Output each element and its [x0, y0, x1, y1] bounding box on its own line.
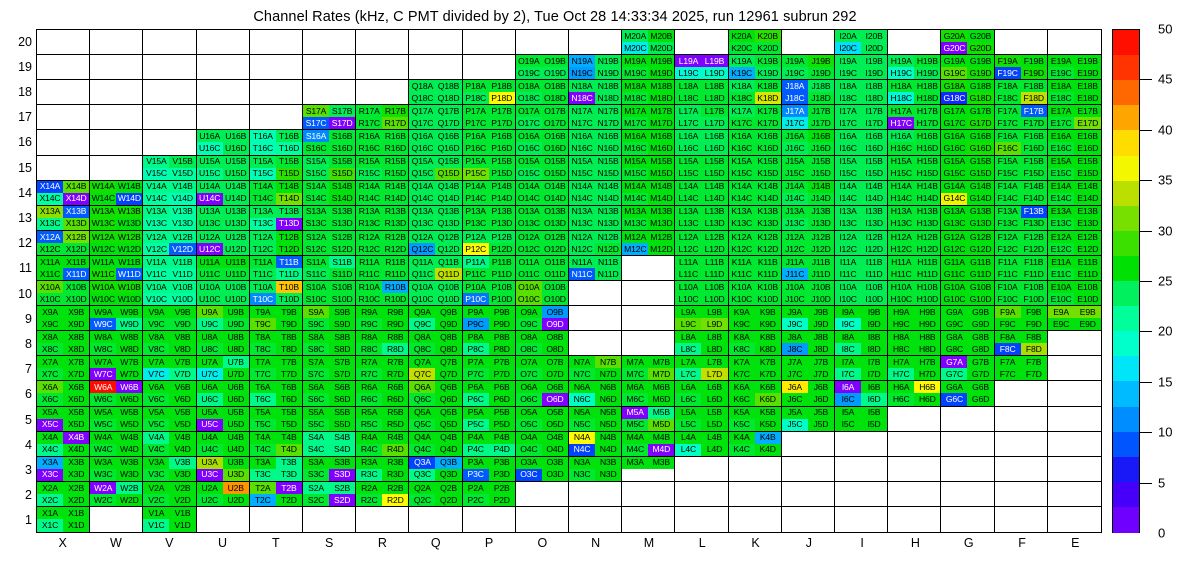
channel-R11B: R11B [382, 256, 408, 268]
grid-cell-N11: N11AN11BN11CN11D [569, 256, 622, 281]
channel-E1B [1074, 507, 1101, 520]
channel-P2C: P2C [463, 494, 489, 506]
channel-S15D: S15D [329, 168, 355, 180]
channel-R15B: R15B [382, 156, 408, 168]
channel-Q12C: Q12C [409, 243, 435, 255]
channel-M19A: M19A [622, 55, 648, 67]
channel-G10D: G10D [967, 293, 993, 305]
channel-M2D [648, 494, 674, 506]
channel-I3A [835, 457, 861, 469]
channel-W10D: W10D [116, 293, 142, 305]
channel-N12D: N12D [595, 243, 621, 255]
grid-cell-V11: V11AV11BV11CV11D [143, 256, 196, 281]
channel-G6D: G6D [967, 393, 993, 405]
channel-K6B: K6B [755, 381, 781, 393]
channel-L8C: L8C [675, 343, 701, 355]
channel-U20C [197, 42, 223, 54]
channel-Q12A: Q12A [409, 231, 435, 243]
channel-J20C [782, 42, 808, 54]
y-tick-20: 20 [2, 35, 32, 49]
x-tick-J: J [789, 536, 829, 550]
channel-T9A: T9A [250, 306, 276, 318]
channel-O16A: O16A [516, 130, 542, 142]
grid-cell-G17: G17AG17BG17CG17D [941, 105, 994, 130]
channel-M17A: M17A [622, 105, 648, 117]
grid-cell-W1 [90, 507, 143, 532]
channel-T3C: T3C [250, 469, 276, 481]
channel-L19D: L19D [701, 67, 727, 79]
grid-cell-F10: F10AF10BF10CF10D [995, 281, 1048, 306]
channel-W5A: W5A [90, 407, 116, 419]
grid-cell-W2: W2AW2BW2CW2D [90, 482, 143, 507]
channel-W18C [90, 92, 116, 104]
channel-S4C: S4C [303, 444, 329, 456]
channel-F2B [1021, 482, 1047, 494]
channel-S3B: S3B [329, 457, 355, 469]
grid-cell-O17: O17AO17BO17CO17D [516, 105, 569, 130]
channel-M20B: M20B [648, 30, 674, 42]
channel-Q16A: Q16A [409, 130, 435, 142]
channel-S4D: S4D [329, 444, 355, 456]
channel-P12A: P12A [463, 231, 489, 243]
channel-Q12B: Q12B [435, 231, 461, 243]
channel-N20B [595, 30, 621, 42]
x-tick-E: E [1055, 536, 1095, 550]
grid-cell-P3: P3AP3BP3CP3D [463, 457, 516, 482]
channel-F8B: F8B [1021, 331, 1047, 343]
channel-R8B: R8B [382, 331, 408, 343]
grid-cell-Q1 [409, 507, 462, 532]
grid-cell-O20 [516, 30, 569, 55]
channel-I18D: I18D [861, 92, 887, 104]
grid-cell-N2 [569, 482, 622, 507]
channel-W1A [90, 507, 116, 520]
grid-cell-W20 [90, 30, 143, 55]
channel-I19D: I19D [861, 67, 887, 79]
channel-J4C [782, 444, 808, 456]
channel-N1D [595, 519, 621, 532]
grid-cell-V19 [143, 55, 196, 80]
channel-K16A: K16A [729, 130, 755, 142]
grid-cell-F14: F14AF14BF14CF14D [995, 181, 1048, 206]
grid-cell-V3: V3AV3BV3CV3D [143, 457, 196, 482]
grid-cell-Q3: Q3AQ3BQ3CQ3D [409, 457, 462, 482]
channel-H14D: H14D [914, 193, 940, 205]
channel-X4C: X4C [37, 444, 63, 456]
channel-W14B: W14B [116, 181, 142, 193]
grid-cell-R2: R2AR2BR2CR2D [356, 482, 409, 507]
channel-I15D: I15D [861, 168, 887, 180]
channel-V8C: V8C [143, 343, 169, 355]
channel-I11A: I11A [835, 256, 861, 268]
channel-K3B [755, 457, 781, 469]
grid-cell-X13: X13AX13BX13CX13D [37, 206, 90, 231]
channel-H7A: H7A [888, 356, 914, 368]
channel-W2B: W2B [116, 482, 142, 494]
channel-R9A: R9A [356, 306, 382, 318]
channel-K18B: K18B [755, 80, 781, 92]
grid-cell-I13: I13AI13BI13CI13D [835, 206, 888, 231]
grid-cell-X10: X10AX10BX10CX10D [37, 281, 90, 306]
grid-cell-Q7: Q7AQ7BQ7CQ7D [409, 356, 462, 381]
channel-K8D: K8D [755, 343, 781, 355]
channel-E10B: E10B [1074, 281, 1101, 293]
channel-N8A [569, 331, 595, 343]
channel-O4A: O4A [516, 432, 542, 444]
channel-I5D: I5D [861, 419, 887, 431]
channel-R9B: R9B [382, 306, 408, 318]
channel-U14C: U14C [197, 193, 223, 205]
channel-T10C: T10C [250, 293, 276, 305]
channel-F15C: F15C [995, 168, 1021, 180]
channel-Q10B: Q10B [435, 281, 461, 293]
channel-G9A: G9A [941, 306, 967, 318]
channel-V9C: V9C [143, 318, 169, 330]
channel-V16C [143, 142, 169, 154]
grid-cell-R7: R7AR7BR7CR7D [356, 356, 409, 381]
channel-P2B: P2B [489, 482, 515, 494]
grid-cell-O13: O13AO13BO13CO13D [516, 206, 569, 231]
grid-cell-V9: V9AV9BV9CV9D [143, 306, 196, 331]
channel-X13A: X13A [37, 206, 63, 218]
channel-X18D [63, 92, 89, 104]
grid-cell-X7: X7AX7BX7CX7D [37, 356, 90, 381]
grid-cell-G14: G14AG14BG14CG14D [941, 181, 994, 206]
channel-O15C: O15C [516, 168, 542, 180]
channel-I7D: I7D [861, 368, 887, 380]
channel-G3B [967, 457, 993, 469]
channel-O3C: O3C [516, 469, 542, 481]
channel-J12D: J12D [808, 243, 834, 255]
channel-O10D: O10D [542, 293, 568, 305]
grid-cell-K8: K8AK8BK8CK8D [729, 331, 782, 356]
channel-X17D [63, 117, 89, 129]
channel-X15D [63, 168, 89, 180]
channel-P8B: P8B [489, 331, 515, 343]
channel-F14C: F14C [995, 193, 1021, 205]
x-tick-S: S [309, 536, 349, 550]
channel-F1C [995, 519, 1021, 532]
channel-G10C: G10C [941, 293, 967, 305]
channel-Q16D: Q16D [435, 142, 461, 154]
channel-L16B: L16B [701, 130, 727, 142]
channel-E7A [1048, 356, 1075, 368]
channel-I12D: I12D [861, 243, 887, 255]
channel-R9D: R9D [382, 318, 408, 330]
grid-cell-F9: F9AF9BF9CF9D [995, 306, 1048, 331]
channel-P13C: P13C [463, 218, 489, 230]
channel-Q16C: Q16C [409, 142, 435, 154]
channel-G14D: G14D [967, 193, 993, 205]
y-tick-16: 16 [2, 135, 32, 149]
channel-G7D: G7D [967, 368, 993, 380]
grid-cell-O12: O12AO12BO12CO12D [516, 231, 569, 256]
grid-cell-W11: W11AW11BW11CW11D [90, 256, 143, 281]
channel-S16B: S16B [329, 130, 355, 142]
channel-I1C [835, 519, 861, 532]
channel-I11C: I11C [835, 268, 861, 280]
channel-U11B: U11B [223, 256, 249, 268]
channel-W11A: W11A [90, 256, 116, 268]
channel-P4A: P4A [463, 432, 489, 444]
grid-cell-E3 [1048, 457, 1101, 482]
channel-M10B [648, 281, 674, 293]
grid-cell-T8: T8AT8BT8CT8D [250, 331, 303, 356]
grid-cell-H17: H17AH17BH17CH17D [888, 105, 941, 130]
channel-V3D: V3D [169, 469, 195, 481]
channel-E12D: E12D [1074, 243, 1101, 255]
channel-P16C: P16C [463, 142, 489, 154]
grid-cell-W13: W13AW13BW13CW13D [90, 206, 143, 231]
grid-cell-E4 [1048, 432, 1101, 457]
channel-Q9D: Q9D [435, 318, 461, 330]
channel-R16B: R16B [382, 130, 408, 142]
channel-L11D: L11D [701, 268, 727, 280]
channel-O3B: O3B [542, 457, 568, 469]
channel-I10A: I10A [835, 281, 861, 293]
channel-I3C [835, 469, 861, 481]
channel-R11C: R11C [356, 268, 382, 280]
channel-N8D [595, 343, 621, 355]
channel-U3D: U3D [223, 469, 249, 481]
channel-Q20C [409, 42, 435, 54]
channel-X16D [63, 142, 89, 154]
channel-O2C [516, 494, 542, 506]
channel-W9C: W9C [90, 318, 116, 330]
channel-V13A: V13A [143, 206, 169, 218]
channel-T15B: T15B [276, 156, 302, 168]
channel-W14C: W14C [90, 193, 116, 205]
channel-L6B: L6B [701, 381, 727, 393]
channel-N10D [595, 293, 621, 305]
channel-J2D [808, 494, 834, 506]
channel-J12C: J12C [782, 243, 808, 255]
channel-T9C: T9C [250, 318, 276, 330]
channel-N12B: N12B [595, 231, 621, 243]
channel-J13B: J13B [808, 206, 834, 218]
channel-X3A: X3A [37, 457, 63, 469]
channel-Q20B [435, 30, 461, 42]
grid-cell-P12: P12AP12BP12CP12D [463, 231, 516, 256]
channel-E8B [1074, 331, 1101, 343]
grid-cell-G3 [941, 457, 994, 482]
channel-O11B: O11B [542, 256, 568, 268]
colorbar-tick-mark-10 [1140, 432, 1152, 433]
grid-cell-V7: V7AV7BV7CV7D [143, 356, 196, 381]
grid-cell-U10: U10AU10BU10CU10D [197, 281, 250, 306]
channel-L3B [701, 457, 727, 469]
channel-S4B: S4B [329, 432, 355, 444]
grid-cell-G18: G18AG18BG18CG18D [941, 80, 994, 105]
channel-I10B: I10B [861, 281, 887, 293]
channel-S17C: S17C [303, 117, 329, 129]
channel-M9D [648, 318, 674, 330]
channel-X9A: X9A [37, 306, 63, 318]
grid-cell-E6 [1048, 381, 1101, 406]
channel-M7A: M7A [622, 356, 648, 368]
channel-J11A: J11A [782, 256, 808, 268]
channel-O18A: O18A [516, 80, 542, 92]
channel-X2A: X2A [37, 482, 63, 494]
channel-O5B: O5B [542, 407, 568, 419]
channel-S9B: S9B [329, 306, 355, 318]
channel-L15D: L15D [701, 168, 727, 180]
channel-U4C: U4C [197, 444, 223, 456]
channel-T20A [250, 30, 276, 42]
channel-W8A: W8A [90, 331, 116, 343]
grid-cell-I5: I5AI5BI5CI5D [835, 407, 888, 432]
channel-R11A: R11A [356, 256, 382, 268]
channel-P1D [489, 519, 515, 532]
channel-G12B: G12B [967, 231, 993, 243]
channel-I7A: I7A [835, 356, 861, 368]
channel-X1A: X1A [37, 507, 63, 520]
channel-S11B: S11B [329, 256, 355, 268]
grid-cell-F15: F15AF15BF15CF15D [995, 156, 1048, 181]
channel-V6B: V6B [169, 381, 195, 393]
channel-R11D: R11D [382, 268, 408, 280]
channel-U12C: U12C [197, 243, 223, 255]
channel-W20A [90, 30, 116, 42]
channel-L19B: L19B [701, 55, 727, 67]
channel-P1A [463, 507, 489, 520]
channel-M2C [622, 494, 648, 506]
channel-E11A: E11A [1048, 256, 1075, 268]
channel-F12A: F12A [995, 231, 1021, 243]
channel-H18D: H18D [914, 92, 940, 104]
channel-P5C: P5C [463, 419, 489, 431]
grid-cell-K16: K16AK16BK16CK16D [729, 130, 782, 155]
channel-Q14B: Q14B [435, 181, 461, 193]
channel-V20D [169, 42, 195, 54]
grid-cell-G8: G8AG8BG8CG8D [941, 331, 994, 356]
channel-K9A: K9A [729, 306, 755, 318]
grid-cell-I12: I12AI12BI12CI12D [835, 231, 888, 256]
channel-I1B [861, 507, 887, 520]
channel-X10B: X10B [63, 281, 89, 293]
channel-T6C: T6C [250, 393, 276, 405]
channel-J16A: J16A [782, 130, 808, 142]
channel-I13D: I13D [861, 218, 887, 230]
channel-N2B [595, 482, 621, 494]
grid-cell-M3: M3AM3B [622, 457, 675, 482]
channel-I18A: I18A [835, 80, 861, 92]
channel-S2D: S2D [329, 494, 355, 506]
channel-S17A: S17A [303, 105, 329, 117]
channel-M15A: M15A [622, 156, 648, 168]
channel-O7A: O7A [516, 356, 542, 368]
grid-cell-N20 [569, 30, 622, 55]
channel-E20C [1048, 42, 1075, 54]
channel-M20C: M20C [622, 42, 648, 54]
channel-M9C [622, 318, 648, 330]
channel-I4D [861, 444, 887, 456]
channel-I1A [835, 507, 861, 520]
grid-cell-U17 [197, 105, 250, 130]
x-tick-I: I [842, 536, 882, 550]
channel-O8C: O8C [516, 343, 542, 355]
channel-H2D [914, 494, 940, 506]
channel-K17C: K17C [729, 117, 755, 129]
channel-N6C: N6C [569, 393, 595, 405]
channel-R12B: R12B [382, 231, 408, 243]
grid-cell-J19: J19AJ19BJ19CJ19D [782, 55, 835, 80]
colorbar-tick-label-5: 5 [1158, 475, 1165, 490]
channel-W13A: W13A [90, 206, 116, 218]
channel-S16C: S16C [303, 142, 329, 154]
channel-W2D: W2D [116, 494, 142, 506]
channel-U19A [197, 55, 223, 67]
grid-cell-X3: X3AX3BX3CX3D [37, 457, 90, 482]
channel-J8A: J8A [782, 331, 808, 343]
channel-W12A: W12A [90, 231, 116, 243]
channel-T8A: T8A [250, 331, 276, 343]
channel-R18C [356, 92, 382, 104]
channel-U7D: U7D [223, 368, 249, 380]
channel-P5D: P5D [489, 419, 515, 431]
channel-M12D: M12D [648, 243, 674, 255]
channel-H11B: H11B [914, 256, 940, 268]
channel-Q19C [409, 67, 435, 79]
channel-N19B: N19B [595, 55, 621, 67]
channel-E18C: E18C [1048, 92, 1075, 104]
channel-P4C: P4C [463, 444, 489, 456]
channel-R13D: R13D [382, 218, 408, 230]
channel-U5B: U5B [223, 407, 249, 419]
channel-T10D: T10D [276, 293, 302, 305]
channel-K7A: K7A [729, 356, 755, 368]
channel-H10A: H10A [888, 281, 914, 293]
channel-V18B [169, 80, 195, 92]
x-tick-O: O [522, 536, 562, 550]
channel-G14C: G14C [941, 193, 967, 205]
grid-cell-M7: M7AM7BM7CM7D [622, 356, 675, 381]
grid-cell-I3 [835, 457, 888, 482]
channel-M12B: M12B [648, 231, 674, 243]
channel-I5A: I5A [835, 407, 861, 419]
channel-G14A: G14A [941, 181, 967, 193]
channel-R12C: R12C [356, 243, 382, 255]
colorbar-tick-mark-25 [1140, 281, 1152, 282]
channel-Q18C: Q18C [409, 92, 435, 104]
grid-cell-I8: I8AI8BI8CI8D [835, 331, 888, 356]
channel-K6C: K6C [729, 393, 755, 405]
channel-S14D: S14D [329, 193, 355, 205]
channel-S19C [303, 67, 329, 79]
channel-F3A [995, 457, 1021, 469]
grid-cell-O9: O9AO9BO9CO9D [516, 306, 569, 331]
grid-cell-G11: G11AG11BG11CG11D [941, 256, 994, 281]
grid-cell-L7: L7AL7BL7CL7D [675, 356, 728, 381]
grid-cell-X9: X9AX9BX9CX9D [37, 306, 90, 331]
channel-V2C: V2C [143, 494, 169, 506]
channel-U11A: U11A [197, 256, 223, 268]
grid-cell-J10: J10AJ10BJ10CJ10D [782, 281, 835, 306]
channel-Q9B: Q9B [435, 306, 461, 318]
channel-P7B: P7B [489, 356, 515, 368]
channel-O14B: O14B [542, 181, 568, 193]
channel-X18B [63, 80, 89, 92]
channel-S8D: S8D [329, 343, 355, 355]
channel-K4D: K4D [755, 444, 781, 456]
channel-W19C [90, 67, 116, 79]
channel-L17D: L17D [701, 117, 727, 129]
channel-I20B: I20B [861, 30, 887, 42]
channel-L14A: L14A [675, 181, 701, 193]
channel-S3D: S3D [329, 469, 355, 481]
channel-W7A: W7A [90, 356, 116, 368]
channel-T10B: T10B [276, 281, 302, 293]
